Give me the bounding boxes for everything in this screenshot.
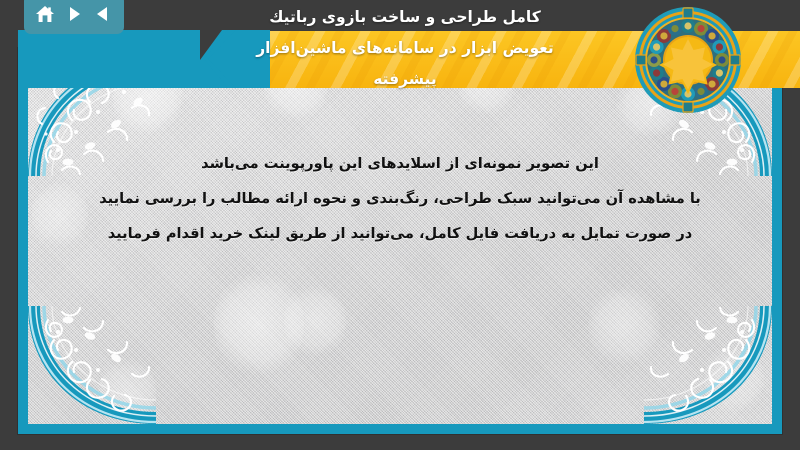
bokeh-light bbox=[588, 284, 660, 368]
bokeh-light bbox=[214, 268, 304, 380]
body-line-2: با مشاهده آن می‌توانید سبک طراحی، رنگ‌بن… bbox=[68, 181, 732, 216]
bokeh-light bbox=[704, 342, 764, 416]
body-line-3: در صورت تمایل به دریافت فایل کامل، می‌تو… bbox=[68, 216, 732, 251]
slide-navigation-bar[interactable] bbox=[24, 0, 124, 34]
back-icon[interactable] bbox=[90, 1, 116, 27]
slide-body-text: این تصویر نمونه‌ای از اسلایدهای این پاور… bbox=[68, 146, 732, 251]
body-line-1: این تصویر نمونه‌ای از اسلایدهای این پاور… bbox=[68, 146, 732, 181]
slide-viewer: این تصویر نمونه‌ای از اسلایدهای این پاور… bbox=[0, 0, 800, 450]
home-icon[interactable] bbox=[32, 1, 58, 27]
bokeh-light bbox=[98, 354, 156, 424]
forward-icon[interactable] bbox=[61, 1, 87, 27]
bokeh-light bbox=[284, 282, 346, 360]
ornamental-medallion bbox=[634, 6, 742, 114]
